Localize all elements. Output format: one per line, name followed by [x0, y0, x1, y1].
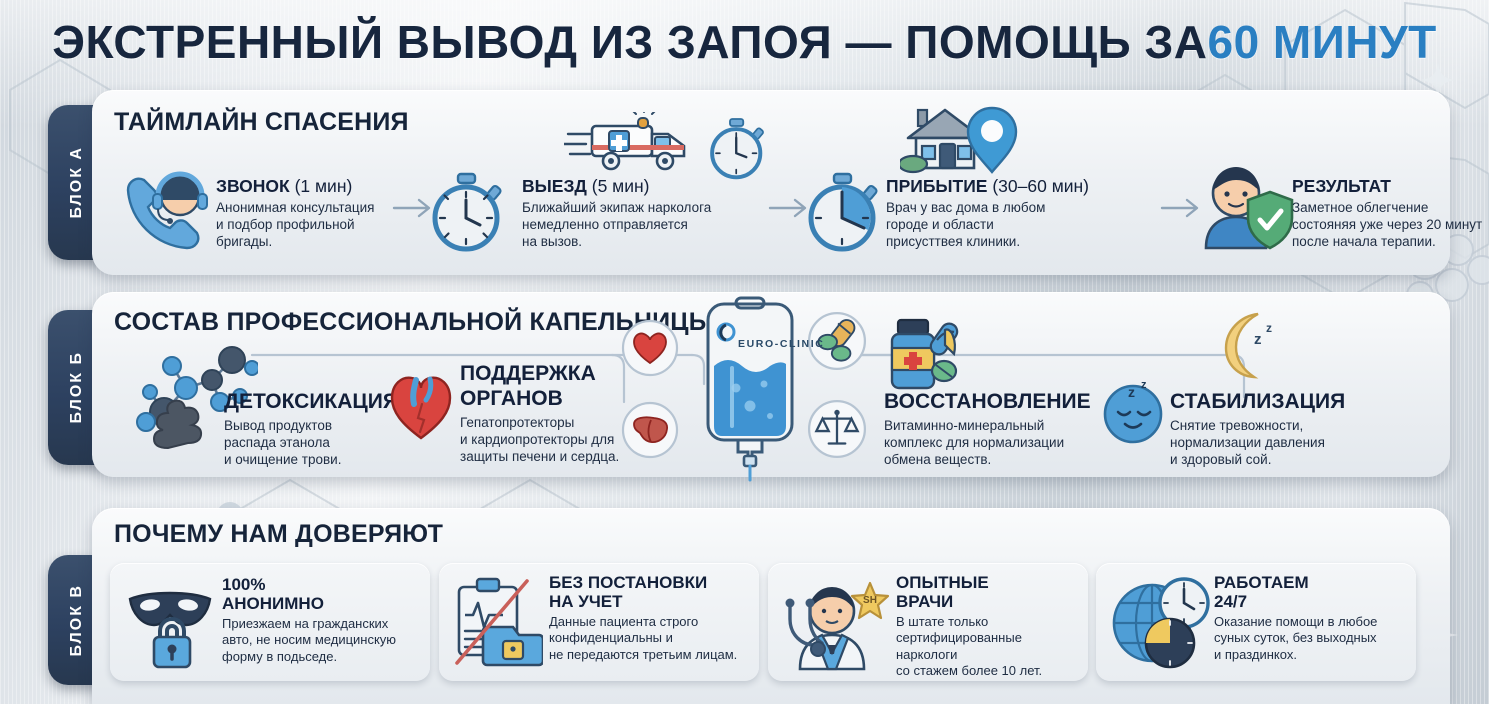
trust-card-3-title: ОПЫТНЫЕ ВРАЧИ — [896, 573, 1086, 611]
step-b-3-title: ВОССТАНОВЛЕНИЕ — [884, 390, 1134, 415]
step-a-2: ВЫЕЗД (5 мин) Ближайший экипаж нарколога… — [522, 176, 782, 250]
step-a-4: РЕЗУЛЬТАТ Заметное облегчение состояняя … — [1292, 176, 1489, 250]
trust-card-1-title: 100% АНОНИМНО — [222, 575, 422, 613]
panel-block-v: ПОЧЕМУ НАМ ДОВЕРЯЮТ 100% АНОНИМНО Приезж… — [92, 508, 1450, 704]
step-a-2-body: Ближайший экипаж нарколога немедленно от… — [522, 199, 782, 251]
step-a-4-body: Заметное облегчение состояняя уже через … — [1292, 199, 1489, 251]
step-a-4-title: РЕЗУЛЬТАТ — [1292, 176, 1391, 196]
svg-text:z: z — [1128, 384, 1135, 400]
step-a-3-title: ПРИБЫТИЕ — [886, 176, 987, 196]
step-a-2-heading: ВЫЕЗД (5 мин) — [522, 176, 782, 197]
moon-icon: z z — [1210, 310, 1284, 382]
svg-text:z: z — [1254, 331, 1262, 348]
heart-small-icon — [620, 318, 680, 378]
step-a-2-time: (5 мин) — [592, 176, 650, 196]
globe-clock-icon — [1108, 575, 1212, 671]
iv-bag-icon — [692, 288, 808, 488]
step-a-4-heading: РЕЗУЛЬТАТ — [1292, 176, 1489, 197]
trust-card-no-registration[interactable]: БЕЗ ПОСТАНОВКИ НА УЧЕТ Данные пациента с… — [439, 563, 759, 681]
mask-lock-icon — [124, 577, 216, 669]
trust-card-1-body: Приезжаем на гражданских авто, не носим … — [222, 616, 422, 665]
step-b-3-body: Витаминно-минеральный комплекс для норма… — [884, 417, 1134, 469]
panel-v-heading: ПОЧЕМУ НАМ ДОВЕРЯЮТ — [114, 520, 443, 549]
page-title: ЭКСТРЕННЫЙ ВЫВОД ИЗ ЗАПОЯ — ПОМОЩЬ ЗА 60… — [0, 6, 1489, 78]
step-b-4: СТАБИЛИЗАЦИЯ Снятие тревожности, нормали… — [1170, 390, 1420, 469]
trust-card-anonymous[interactable]: 100% АНОНИМНО Приезжаем на гражданских а… — [110, 563, 430, 681]
panel-a-heading: ТАЙМЛАЙН СПАСЕНИЯ — [114, 108, 409, 137]
title-dark-text: ЭКСТРЕННЫЙ ВЫВОД ИЗ ЗАПОЯ — ПОМОЩЬ ЗА — [52, 15, 1207, 69]
step-a-3: ПРИБЫТИЕ (30–60 мин) Врач у вас дома в л… — [886, 176, 1156, 250]
stopwatch-icon-a2 — [422, 168, 512, 252]
svg-text:z: z — [1266, 321, 1272, 335]
step-a-3-time: (30–60 мин) — [992, 176, 1089, 196]
panel-block-a: ТАЙМЛАЙН СПАСЕНИЯ ЗВОНОК (1 мин) Анонимн… — [92, 90, 1450, 275]
iv-bag-label: EURO-CLINIC — [738, 338, 824, 350]
block-tab-v-label: БЛОК В — [68, 584, 86, 657]
patient-shield-icon — [1196, 160, 1296, 252]
step-a-1-heading: ЗВОНОК (1 мин) — [216, 176, 456, 197]
block-tab-b-label: БЛОК Б — [68, 351, 86, 423]
stopwatch-icon-a3 — [798, 168, 888, 252]
sleeping-face-icon: z z — [1098, 372, 1172, 446]
trust-card-3-body: В штате только сертифицированные нарколо… — [896, 614, 1086, 680]
vitamin-bottle-pills-icon — [882, 316, 972, 396]
panel-block-b: СОСТАВ ПРОФЕССИОНАЛЬНОЙ КАПЕЛЬНИЦЫ — [92, 292, 1450, 477]
doctor-badge-text: SH — [863, 595, 877, 606]
block-tab-a-label: БЛОК А — [68, 146, 86, 219]
step-a-1-time: (1 мин) — [295, 176, 353, 196]
trust-card-4-body: Оказание помощи в любое суных суток, без… — [1214, 614, 1410, 663]
step-a-1-title: ЗВОНОК — [216, 176, 290, 196]
step-a-3-heading: ПРИБЫТИЕ (30–60 мин) — [886, 176, 1156, 197]
phone-headset-icon — [120, 170, 212, 250]
step-a-2-title: ВЫЕЗД — [522, 176, 587, 196]
liver-icon — [620, 400, 680, 460]
scales-icon — [806, 398, 868, 460]
svg-text:z: z — [1141, 379, 1147, 391]
title-accent-text: 60 МИНУТ — [1207, 15, 1436, 69]
trust-card-24-7[interactable]: РАБОТАЕМ 24/7 Оказание помощи в любое су… — [1096, 563, 1416, 681]
heart-icon — [386, 370, 456, 442]
trust-card-doctors[interactable]: SH ОПЫТНЫЕ ВРАЧИ В штате только сертифиц… — [768, 563, 1088, 681]
trust-card-4-title: РАБОТАЕМ 24/7 — [1214, 573, 1410, 611]
step-b-3: ВОССТАНОВЛЕНИЕ Витаминно-минеральный ком… — [884, 390, 1134, 469]
trust-card-2-body: Данные пациента строго конфиденциальны и… — [549, 614, 757, 663]
step-b-4-body: Снятие тревожности, нормализации давлени… — [1170, 417, 1420, 469]
house-pin-icon — [900, 104, 1020, 180]
step-a-3-body: Врач у вас дома в любом городе и области… — [886, 199, 1156, 251]
stopwatch-icon-a2b — [702, 112, 772, 182]
doctor-star-icon: SH — [776, 573, 894, 673]
clipboard-crossed-icon — [451, 575, 543, 669]
ambulance-icon — [564, 112, 694, 174]
step-b-4-title: СТАБИЛИЗАЦИЯ — [1170, 390, 1420, 415]
trust-card-2-title: БЕЗ ПОСТАНОВКИ НА УЧЕТ — [549, 573, 757, 611]
